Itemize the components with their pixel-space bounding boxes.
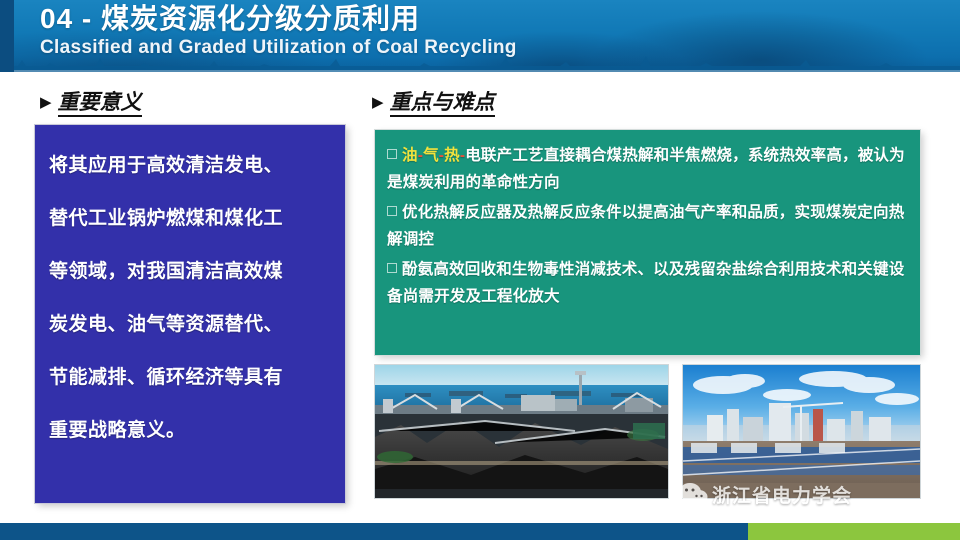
triangle-marker-icon: ▶: [372, 93, 384, 111]
importance-line: 重要战略意义。: [49, 404, 331, 457]
keypoint-bullet: 油-气-热-电联产工艺直接耦合煤热解和半焦燃烧，系统热效率高，被认为是煤炭利用的…: [387, 142, 908, 196]
chemical-plant-image: [683, 365, 920, 498]
keypoint-text-segment: 气: [423, 147, 439, 164]
square-bullet-icon: [387, 149, 397, 159]
section-heading-keypoints: ▶重点与难点: [372, 86, 495, 116]
keypoint-text-segment: 酚氨高效回收和生物毒性消减技术、以及残留杂盐综合利用技术和关键设备尚需开发及工程…: [387, 261, 904, 305]
importance-line: 替代工业锅炉燃煤和煤化工: [49, 192, 331, 245]
slide-header: 04 - 煤炭资源化分级分质利用 Classified and Graded U…: [0, 0, 960, 72]
slide: 04 - 煤炭资源化分级分质利用 Classified and Graded U…: [0, 0, 960, 540]
keypoint-bullet: 酚氨高效回收和生物毒性消减技术、以及残留杂盐综合利用技术和关键设备尚需开发及工程…: [387, 256, 908, 310]
importance-text-panel: 将其应用于高效清洁发电、替代工业锅炉燃煤和煤化工等领域，对我国清洁高效煤炭发电、…: [35, 125, 345, 503]
section-heading-importance-label: 重要意义: [58, 91, 142, 117]
page-title-en: Classified and Graded Utilization of Coa…: [40, 36, 517, 60]
keypoint-text-segment: 热: [444, 147, 460, 164]
keypoints-text-panel: 油-气-热-电联产工艺直接耦合煤热解和半焦燃烧，系统热效率高，被认为是煤炭利用的…: [375, 130, 920, 355]
header-title-wrap: 04 - 煤炭资源化分级分质利用 Classified and Graded U…: [40, 2, 517, 60]
left-edge-strip: [0, 0, 14, 540]
bottom-bar-blue: [0, 523, 748, 540]
bottom-bar: [0, 523, 960, 540]
importance-line: 将其应用于高效清洁发电、: [49, 139, 331, 192]
importance-line: 节能减排、循环经济等具有: [49, 351, 331, 404]
photo-chemical-plant: [683, 365, 920, 498]
importance-line: 炭发电、油气等资源替代、: [49, 298, 331, 351]
coal-stockyard-image: [375, 365, 668, 498]
importance-line: 等领域，对我国清洁高效煤: [49, 245, 331, 298]
page-title-cn: 04 - 煤炭资源化分级分质利用: [40, 2, 517, 36]
square-bullet-icon: [387, 206, 397, 216]
keypoint-text-segment: 优化热解反应器及热解反应条件以提高油气产率和品质，实现煤炭定向热解调控: [387, 204, 904, 248]
bottom-bar-green: [748, 523, 960, 540]
section-heading-importance: ▶重要意义: [40, 86, 142, 116]
square-bullet-icon: [387, 263, 397, 273]
section-heading-keypoints-label: 重点与难点: [390, 91, 495, 117]
photo-coal-stockyard: [375, 365, 668, 498]
keypoint-bullet: 优化热解反应器及热解反应条件以提高油气产率和品质，实现煤炭定向热解调控: [387, 199, 908, 253]
header-baseline: [0, 70, 960, 72]
keypoint-text-segment: 电联产工艺直接耦合煤热解和半焦燃烧，系统热效率高，被认为是煤炭利用的革命性方向: [387, 147, 905, 191]
keypoint-text-segment: 油: [402, 147, 418, 164]
triangle-marker-icon: ▶: [40, 93, 52, 111]
